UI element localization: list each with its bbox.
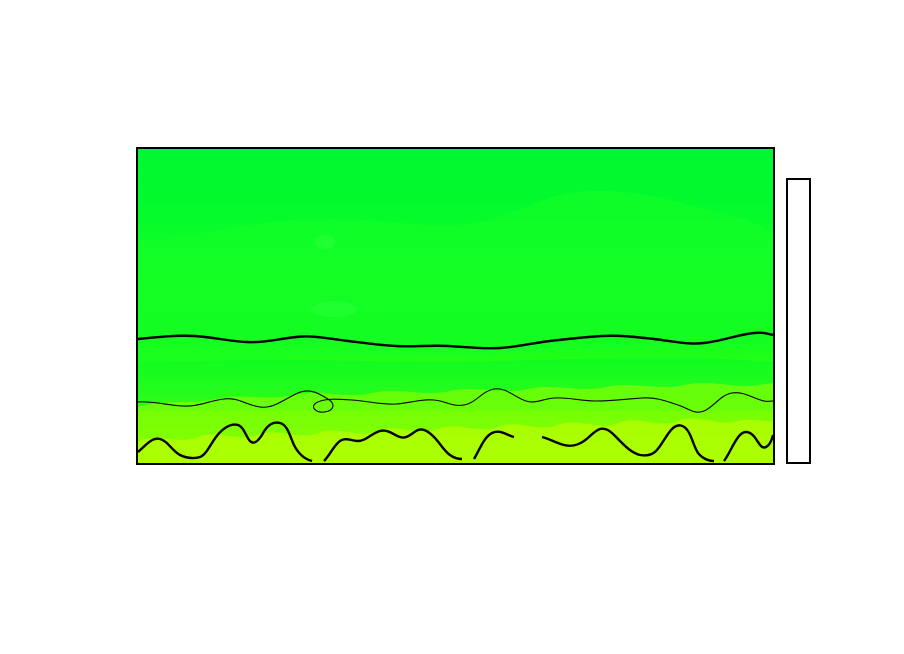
y-axis-labels — [86, 147, 130, 465]
contour-plot-area — [136, 147, 775, 465]
field-blob-a — [315, 235, 335, 249]
x-axis-labels — [136, 468, 775, 494]
colorbar-gradient — [786, 178, 811, 464]
colorbar — [786, 178, 904, 466]
contour-plot-canvas — [138, 149, 773, 463]
field-blob-b — [311, 301, 357, 317]
